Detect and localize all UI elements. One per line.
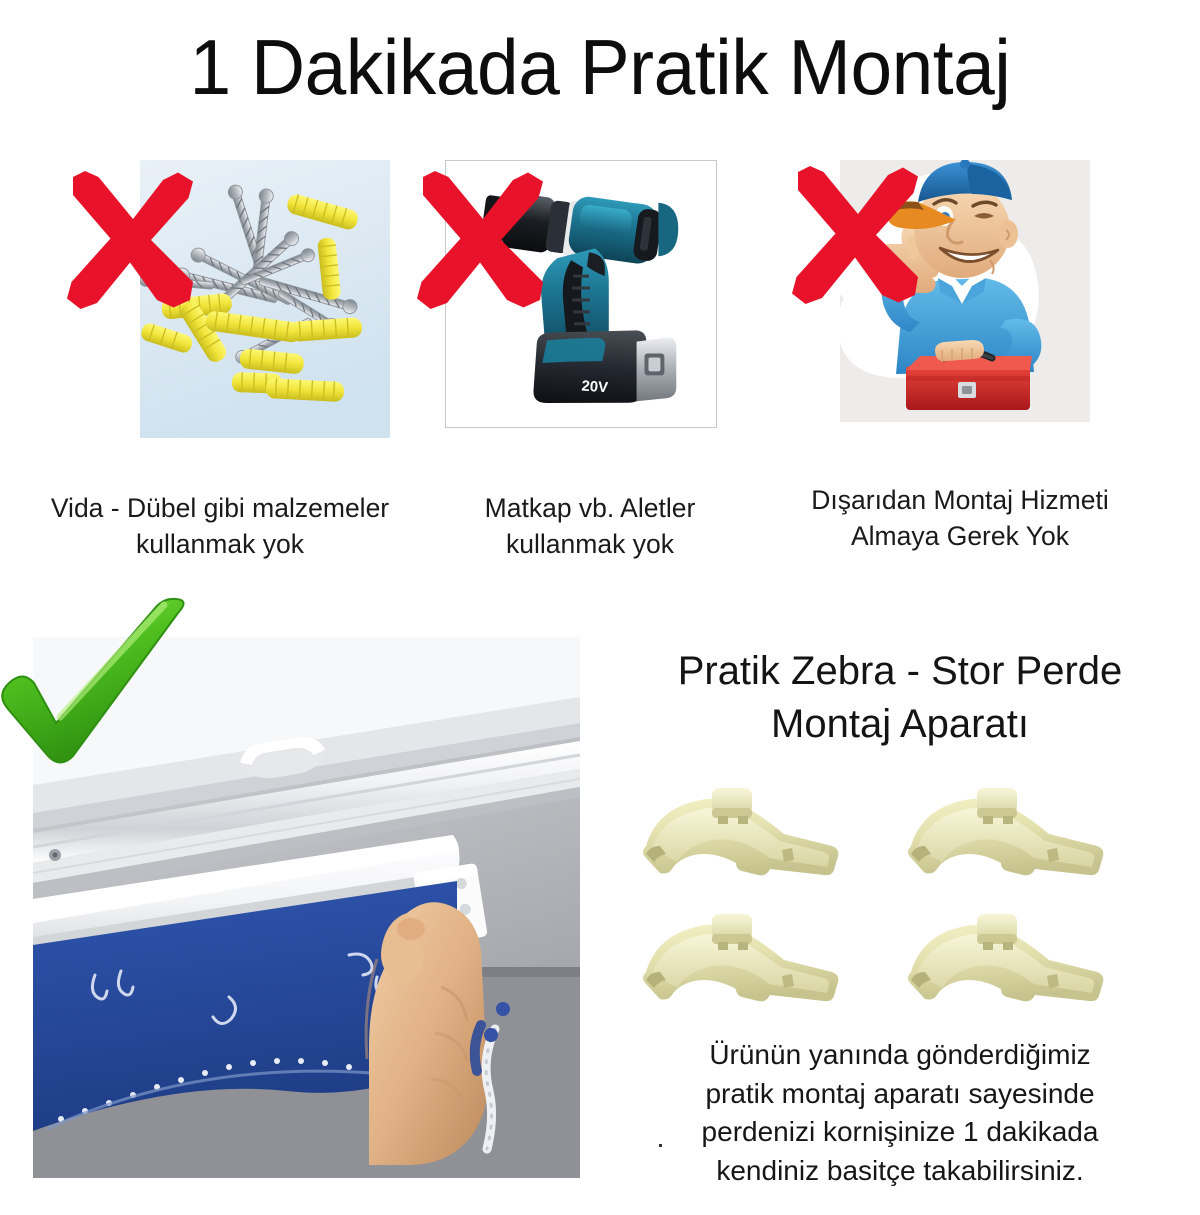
prohibited-caption: Vida - Dübel gibi malzemeler kullanmak y… [30,490,410,562]
caption-line-2: Almaya Gerek Yok [760,518,1160,554]
description-line-1: Ürünün yanında gönderdiğimiz [640,1036,1160,1075]
stray-dot-artifact [659,1144,662,1147]
screws-and-plugs-illustration [140,160,390,438]
product-heading: Pratik Zebra - Stor Perde Montaj Aparatı [600,645,1200,751]
description-line-2: pratik montaj aparatı sayesinde [640,1075,1160,1114]
mounting-bracket-clip [640,782,845,879]
product-heading-line-2: Montaj Aparatı [600,698,1200,751]
description-line-3: perdenizi kornişinize 1 dakikada [640,1113,1160,1152]
cordless-drill-illustration: 20V [446,161,716,427]
product-description: Ürünün yanında gönderdiğimiz pratik mont… [640,1036,1160,1191]
page-title: 1 Dakikada Pratik Montaj [24,22,1176,113]
prohibited-item-external-installation-service: Dışarıdan Montaj Hizmeti Almaya Gerek Yo… [760,160,1160,422]
prohibited-items-row: Vida - Dübel gibi malzemeler kullanmak y… [0,160,1200,590]
caption-line-1: Matkap vb. Aletler [400,490,780,526]
mounting-bracket-clip [640,908,845,1005]
mounting-bracket-clip [905,782,1110,879]
green-check-mark-icon [0,597,186,767]
handyman-illustration [840,160,1090,422]
prohibited-item-screws-and-wall-plugs: Vida - Dübel gibi malzemeler kullanmak y… [30,160,410,438]
caption-line-2: kullanmak yok [400,526,780,562]
mounting-brackets-grid [610,760,1190,1010]
mounting-bracket-clip [905,908,1110,1005]
caption-line-2: kullanmak yok [30,526,410,562]
caption-line-1: Vida - Dübel gibi malzemeler [30,490,410,526]
battery-voltage-label: 20V [581,379,609,397]
prohibited-caption: Dışarıdan Montaj Hizmeti Almaya Gerek Yo… [760,482,1160,554]
handyman-with-toolbox-illustration [840,160,1090,422]
product-heading-line-1: Pratik Zebra - Stor Perde [600,645,1200,698]
cordless-drill-photo: 20V [445,160,717,428]
description-line-4: kendiniz basitçe takabilirsiniz. [640,1152,1160,1191]
screws-and-plugs-photo [140,160,390,438]
prohibited-item-power-drill: 20V Matkap vb. Aletler kullanmak yok [400,160,780,428]
prohibited-caption: Matkap vb. Aletler kullanmak yok [400,490,780,562]
caption-line-1: Dışarıdan Montaj Hizmeti [760,482,1160,518]
